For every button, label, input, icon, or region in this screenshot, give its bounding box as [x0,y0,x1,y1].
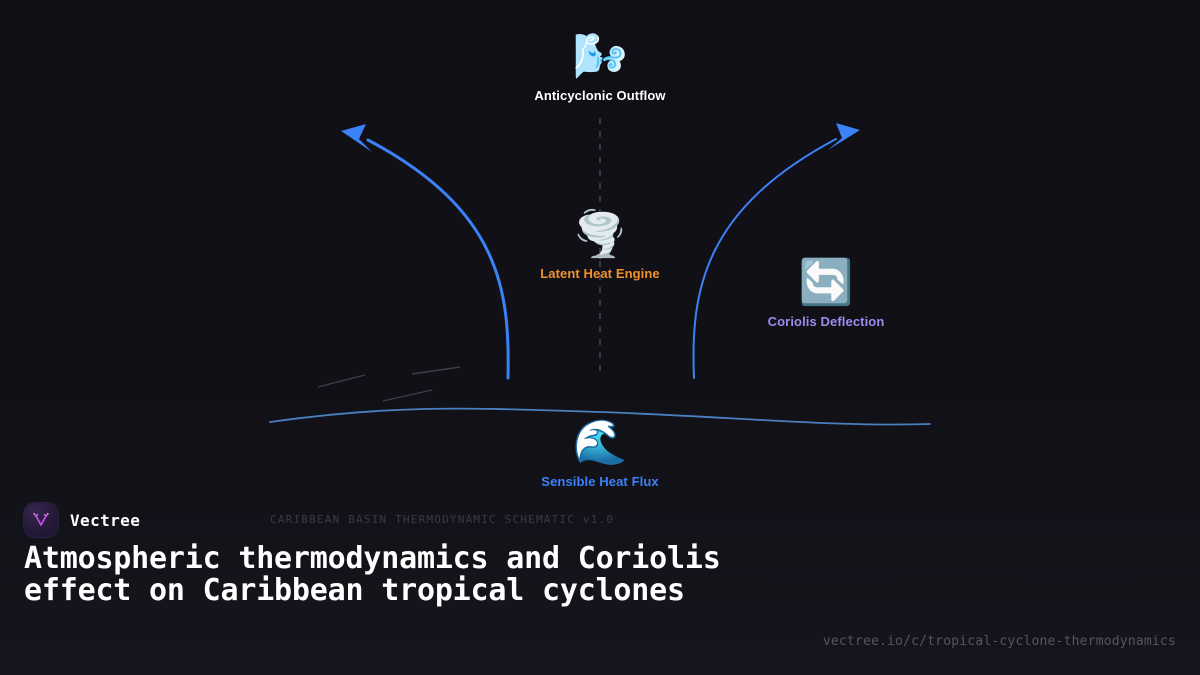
node-label-latent-heat-engine: Latent Heat Engine [540,266,660,281]
source-url: vectree.io/c/tropical-cyclone-thermodyna… [823,634,1176,649]
node-coriolis-deflection[interactable]: 🔄 Coriolis Deflection [716,256,936,329]
brand-row[interactable]: Vectree [24,503,140,537]
node-label-anticyclonic-outflow: Anticyclonic Outflow [534,88,665,103]
diagram-canvas: 🌬️ Anticyclonic Outflow 🌪️ Latent Heat E… [0,0,1200,675]
tornado-icon: 🌪️ [573,208,628,262]
node-anticyclonic-outflow[interactable]: 🌬️ Anticyclonic Outflow [490,30,710,103]
shear-streak-3 [412,367,460,374]
right-outflow-arrowhead [828,123,860,150]
vectree-logo-mark [31,510,51,530]
ocean-wave-icon: 🌊 [573,416,628,470]
footer: Vectree CARIBBEAN BASIN THERMODYNAMIC SC… [0,485,1200,675]
shear-streak-1 [318,375,365,387]
left-outflow-arrowhead [341,124,372,152]
page-title: Atmospheric thermodynamics and Coriolis … [24,543,724,607]
vectree-logo-icon [24,503,58,537]
counterclockwise-arrows-icon: 🔄 [799,256,854,310]
node-label-coriolis-deflection: Coriolis Deflection [768,314,885,329]
brand-name: Vectree [70,511,140,530]
shear-streak-2 [383,390,432,401]
node-sensible-heat-flux[interactable]: 🌊 Sensible Heat Flux [490,416,710,489]
left-outflow-arrow-path [368,140,508,378]
schematic-eyebrow-label: CARIBBEAN BASIN THERMODYNAMIC SCHEMATIC … [270,513,614,526]
node-latent-heat-engine[interactable]: 🌪️ Latent Heat Engine [490,208,710,281]
wind-face-icon: 🌬️ [573,30,628,84]
